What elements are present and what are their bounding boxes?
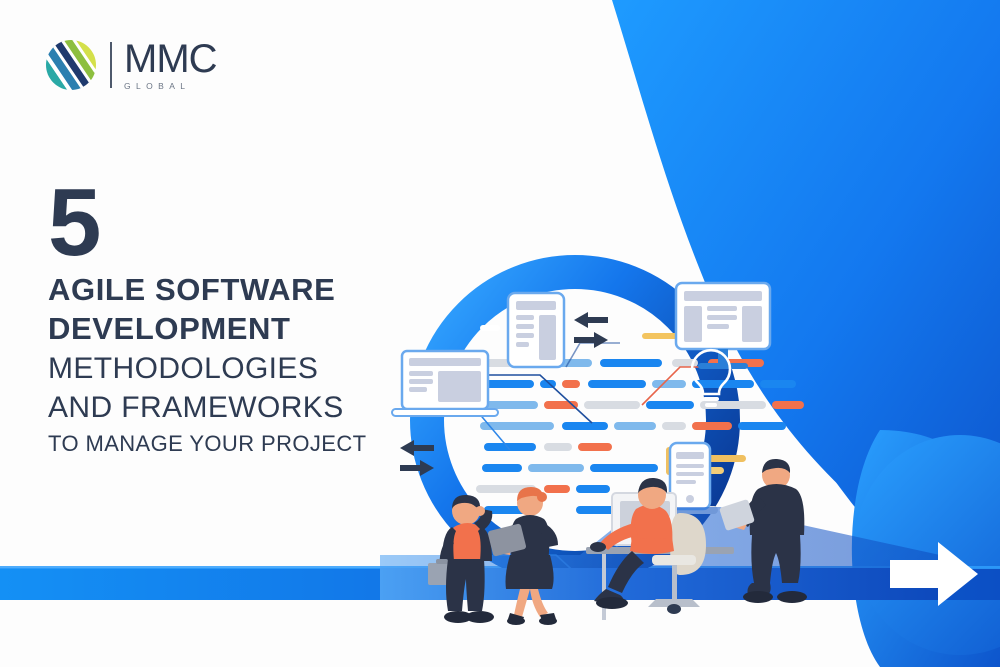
brand-name: MMC <box>124 40 217 78</box>
gantt-bar <box>760 380 796 388</box>
headline-number: 5 <box>48 182 448 264</box>
gantt-bar <box>590 464 658 472</box>
gantt-bar <box>584 401 640 409</box>
gantt-bar <box>562 380 580 388</box>
exchange-arrows-top <box>574 312 608 348</box>
gantt-bar <box>544 485 570 493</box>
gantt-bar <box>772 401 804 409</box>
brand-logo[interactable]: MMC GLOBAL <box>44 38 217 92</box>
gantt-bar <box>562 422 608 430</box>
gantt-bar <box>576 485 610 493</box>
dash-marker <box>480 325 500 331</box>
gantt-bar <box>588 380 646 388</box>
gantt-bar <box>652 380 686 388</box>
gantt-bar <box>738 422 786 430</box>
gantt-bar <box>600 359 662 367</box>
gantt-bar <box>482 464 522 472</box>
mmc-globe-swoosh-icon <box>44 38 98 92</box>
gantt-bar <box>692 422 732 430</box>
gantt-bar <box>646 401 694 409</box>
agile-illustration <box>380 255 940 667</box>
logo-divider <box>110 42 112 88</box>
forward-arrow-icon[interactable] <box>890 538 980 610</box>
tablet-document-icon <box>508 293 564 367</box>
gantt-bar <box>614 422 656 430</box>
brand-tagline: GLOBAL <box>124 81 217 91</box>
gantt-bar <box>662 422 686 430</box>
laptop-icon <box>392 351 498 416</box>
poster-canvas: MMC GLOBAL 5 AGILE SOFTWARE DEVELOPMENT … <box>0 0 1000 667</box>
gantt-bar <box>544 443 572 451</box>
gantt-bar <box>578 443 612 451</box>
gantt-bar <box>528 464 584 472</box>
